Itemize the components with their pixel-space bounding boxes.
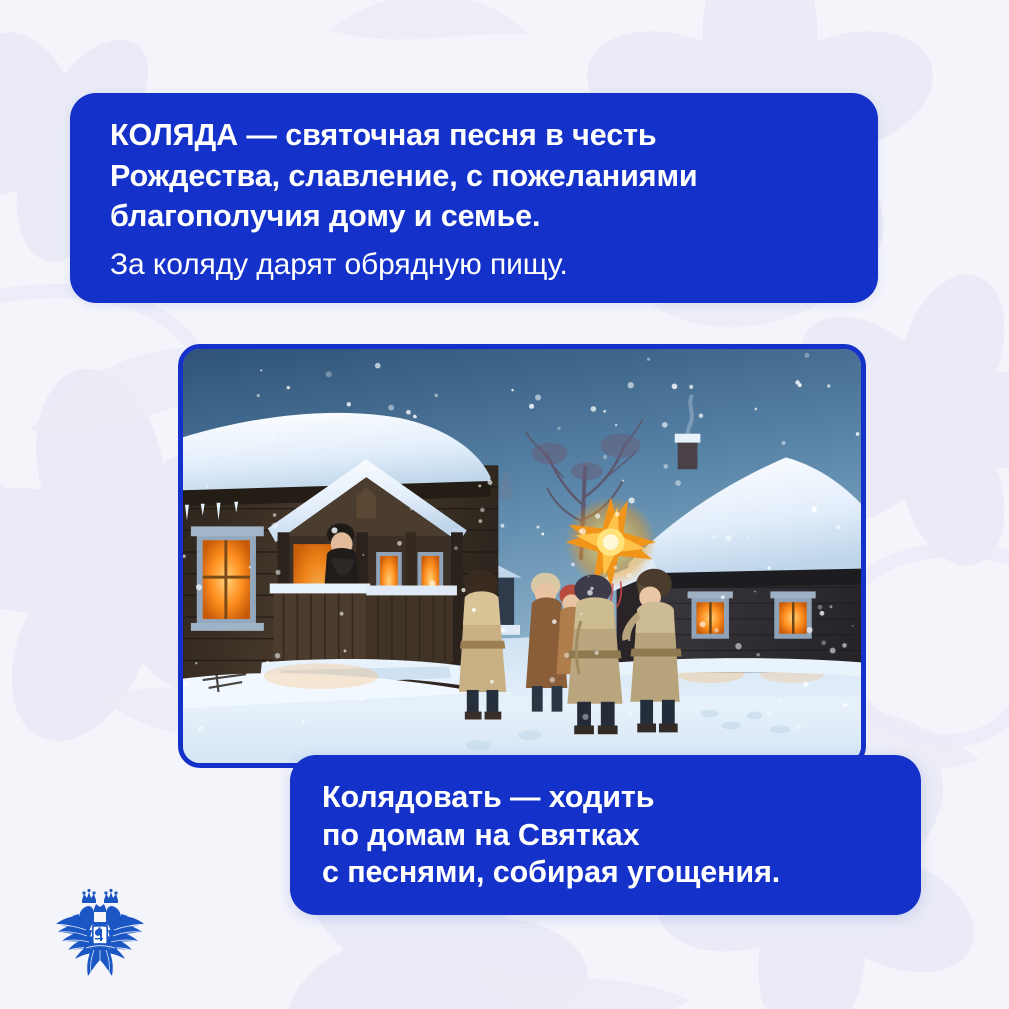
- definition-line-1: КОЛЯДА — святочная песня в честь: [110, 115, 844, 156]
- definition-card-koliada: КОЛЯДА — святочная песня в честь Рождест…: [70, 93, 878, 303]
- definition-card-koliadovat: Колядовать — ходить по домам на Святках …: [290, 755, 921, 915]
- winter-village-illustration: [183, 349, 861, 767]
- definition-line-2: Рождества, славление, с пожеланиями: [110, 156, 844, 197]
- definition-card-text: КОЛЯДА — святочная песня в честь Рождест…: [70, 93, 878, 303]
- koliadovat-line-2: по домам на Святках: [322, 817, 891, 855]
- koliadovat-line-3: с песнями, собирая угощения.: [322, 854, 891, 892]
- illustration-card: [178, 344, 866, 768]
- definition-line-4: За коляду дарят обрядную пищу.: [110, 237, 844, 286]
- double-headed-eagle-emblem-icon: [48, 884, 152, 988]
- definition-line-3: благополучия дому и семье.: [110, 196, 844, 237]
- koliadovat-line-1: Колядовать — ходить: [322, 779, 891, 817]
- definition-card-text-2: Колядовать — ходить по домам на Святках …: [290, 755, 921, 912]
